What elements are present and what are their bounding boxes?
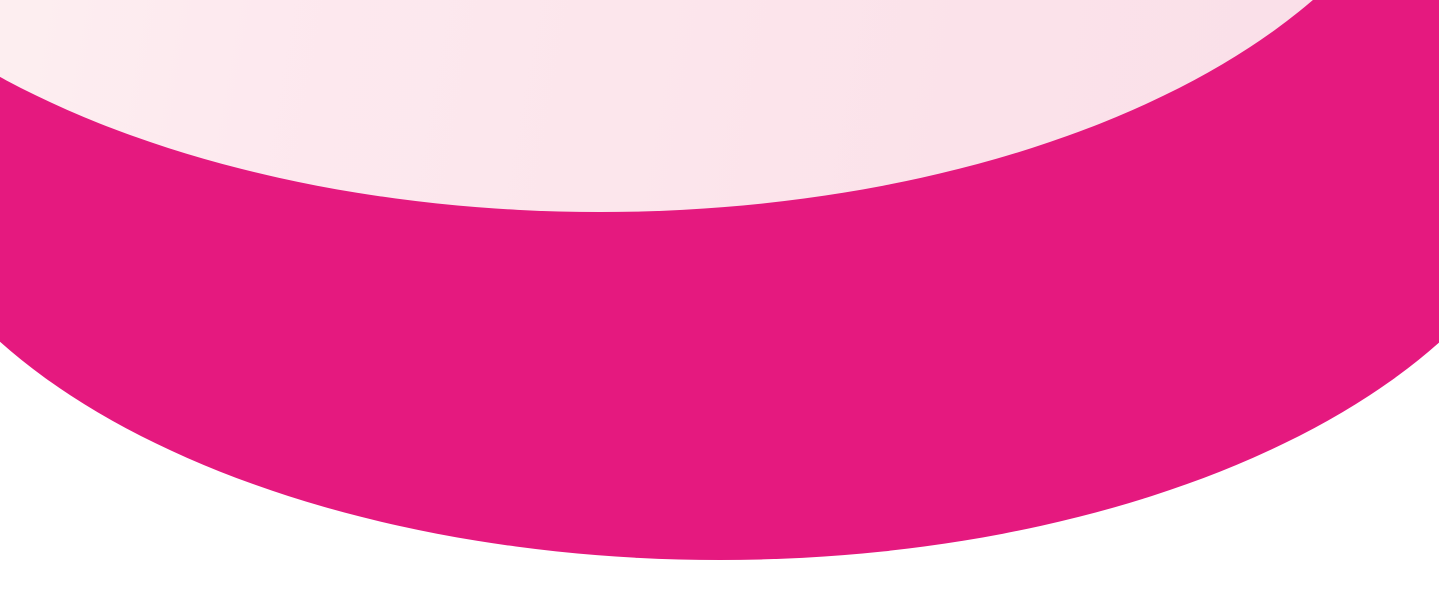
card-accent-edge: 男孩 生男孩 性别逖 (0, 0, 1439, 560)
card-face: 男孩 生男孩 性别逖 (0, 0, 1439, 212)
promo-banner: 男孩 生男孩 性别逖 (0, 0, 1439, 600)
